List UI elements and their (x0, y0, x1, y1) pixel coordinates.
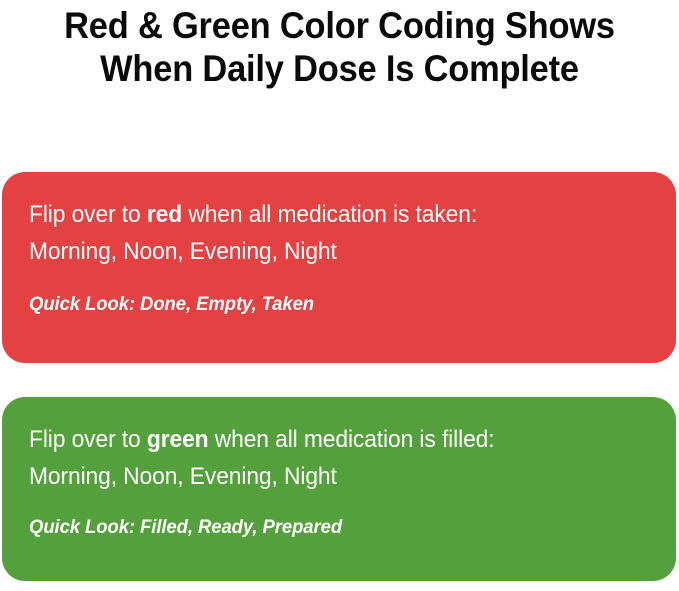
red-panel-emphasis-word: red (147, 201, 182, 228)
red-panel-line-1-suffix: when all medication is taken: (182, 201, 477, 228)
page-title-line-1: Red & Green Color Coding Shows (24, 4, 655, 47)
green-panel-line-1-prefix: Flip over to (29, 426, 147, 453)
green-panel-line-1: Flip over to green when all medication i… (29, 421, 617, 458)
red-panel-body: Flip over to red when all medication is … (29, 196, 617, 270)
green-panel-line-2: Morning, Noon, Evening, Night (29, 458, 617, 495)
red-panel-line-2: Morning, Noon, Evening, Night (29, 233, 617, 270)
green-color-coding-panel: Flip over to green when all medication i… (2, 397, 676, 581)
red-panel-line-1: Flip over to red when all medication is … (29, 196, 617, 233)
red-color-coding-panel: Flip over to red when all medication is … (2, 172, 676, 363)
red-panel-line-1-prefix: Flip over to (29, 201, 147, 228)
page-title: Red & Green Color Coding Shows When Dail… (24, 4, 655, 90)
green-panel-quick-look: Quick Look: Filled, Ready, Prepared (29, 515, 617, 539)
red-panel-quick-look: Quick Look: Done, Empty, Taken (29, 292, 617, 316)
infographic-page: Red & Green Color Coding Shows When Dail… (0, 0, 679, 591)
page-title-line-2: When Daily Dose Is Complete (24, 47, 655, 90)
green-panel-body: Flip over to green when all medication i… (29, 421, 617, 495)
green-panel-line-1-suffix: when all medication is filled: (209, 426, 495, 453)
green-panel-emphasis-word: green (147, 426, 209, 453)
